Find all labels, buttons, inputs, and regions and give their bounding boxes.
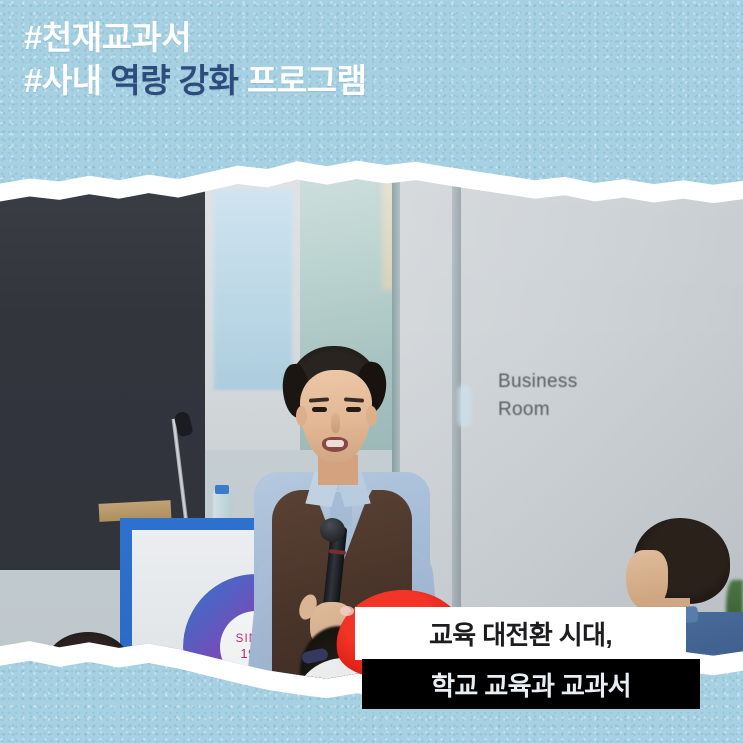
headline-line-2-suffix: 프로그램: [238, 62, 366, 99]
sign-line-1: Business: [498, 368, 698, 396]
door-handle: [458, 385, 471, 427]
speaker-nose: [331, 413, 340, 433]
headline-line-1: #천재교과서: [24, 19, 366, 58]
window-pane: [214, 190, 292, 390]
headline-line-2-accent: 역량 강화: [110, 62, 238, 99]
headline-line-2-prefix: #사내: [24, 62, 110, 99]
speaker-ear-right: [366, 406, 377, 426]
speaker-ear-left: [296, 406, 307, 426]
speaker-teeth: [326, 440, 344, 447]
caption-box-bottom: 학교 교육과 교과서: [362, 659, 700, 709]
caption-box-top: 교육 대전환 시대,: [355, 607, 686, 660]
business-room-sign: Business Room: [498, 368, 698, 423]
page-title: #천재교과서 #사내 역량 강화 프로그램: [24, 19, 366, 101]
sign-line-2: Room: [498, 396, 698, 424]
speaker-eye-left: [312, 407, 327, 412]
headline-line-2: #사내 역량 강화 프로그램: [24, 62, 366, 101]
speaker-eye-right: [346, 407, 361, 412]
beret-top-nub: [340, 606, 354, 616]
caption-top-text: 교육 대전환 시대,: [429, 615, 612, 652]
caption-bottom-text: 학교 교육과 교과서: [431, 666, 631, 703]
bottle-cap: [215, 485, 229, 494]
